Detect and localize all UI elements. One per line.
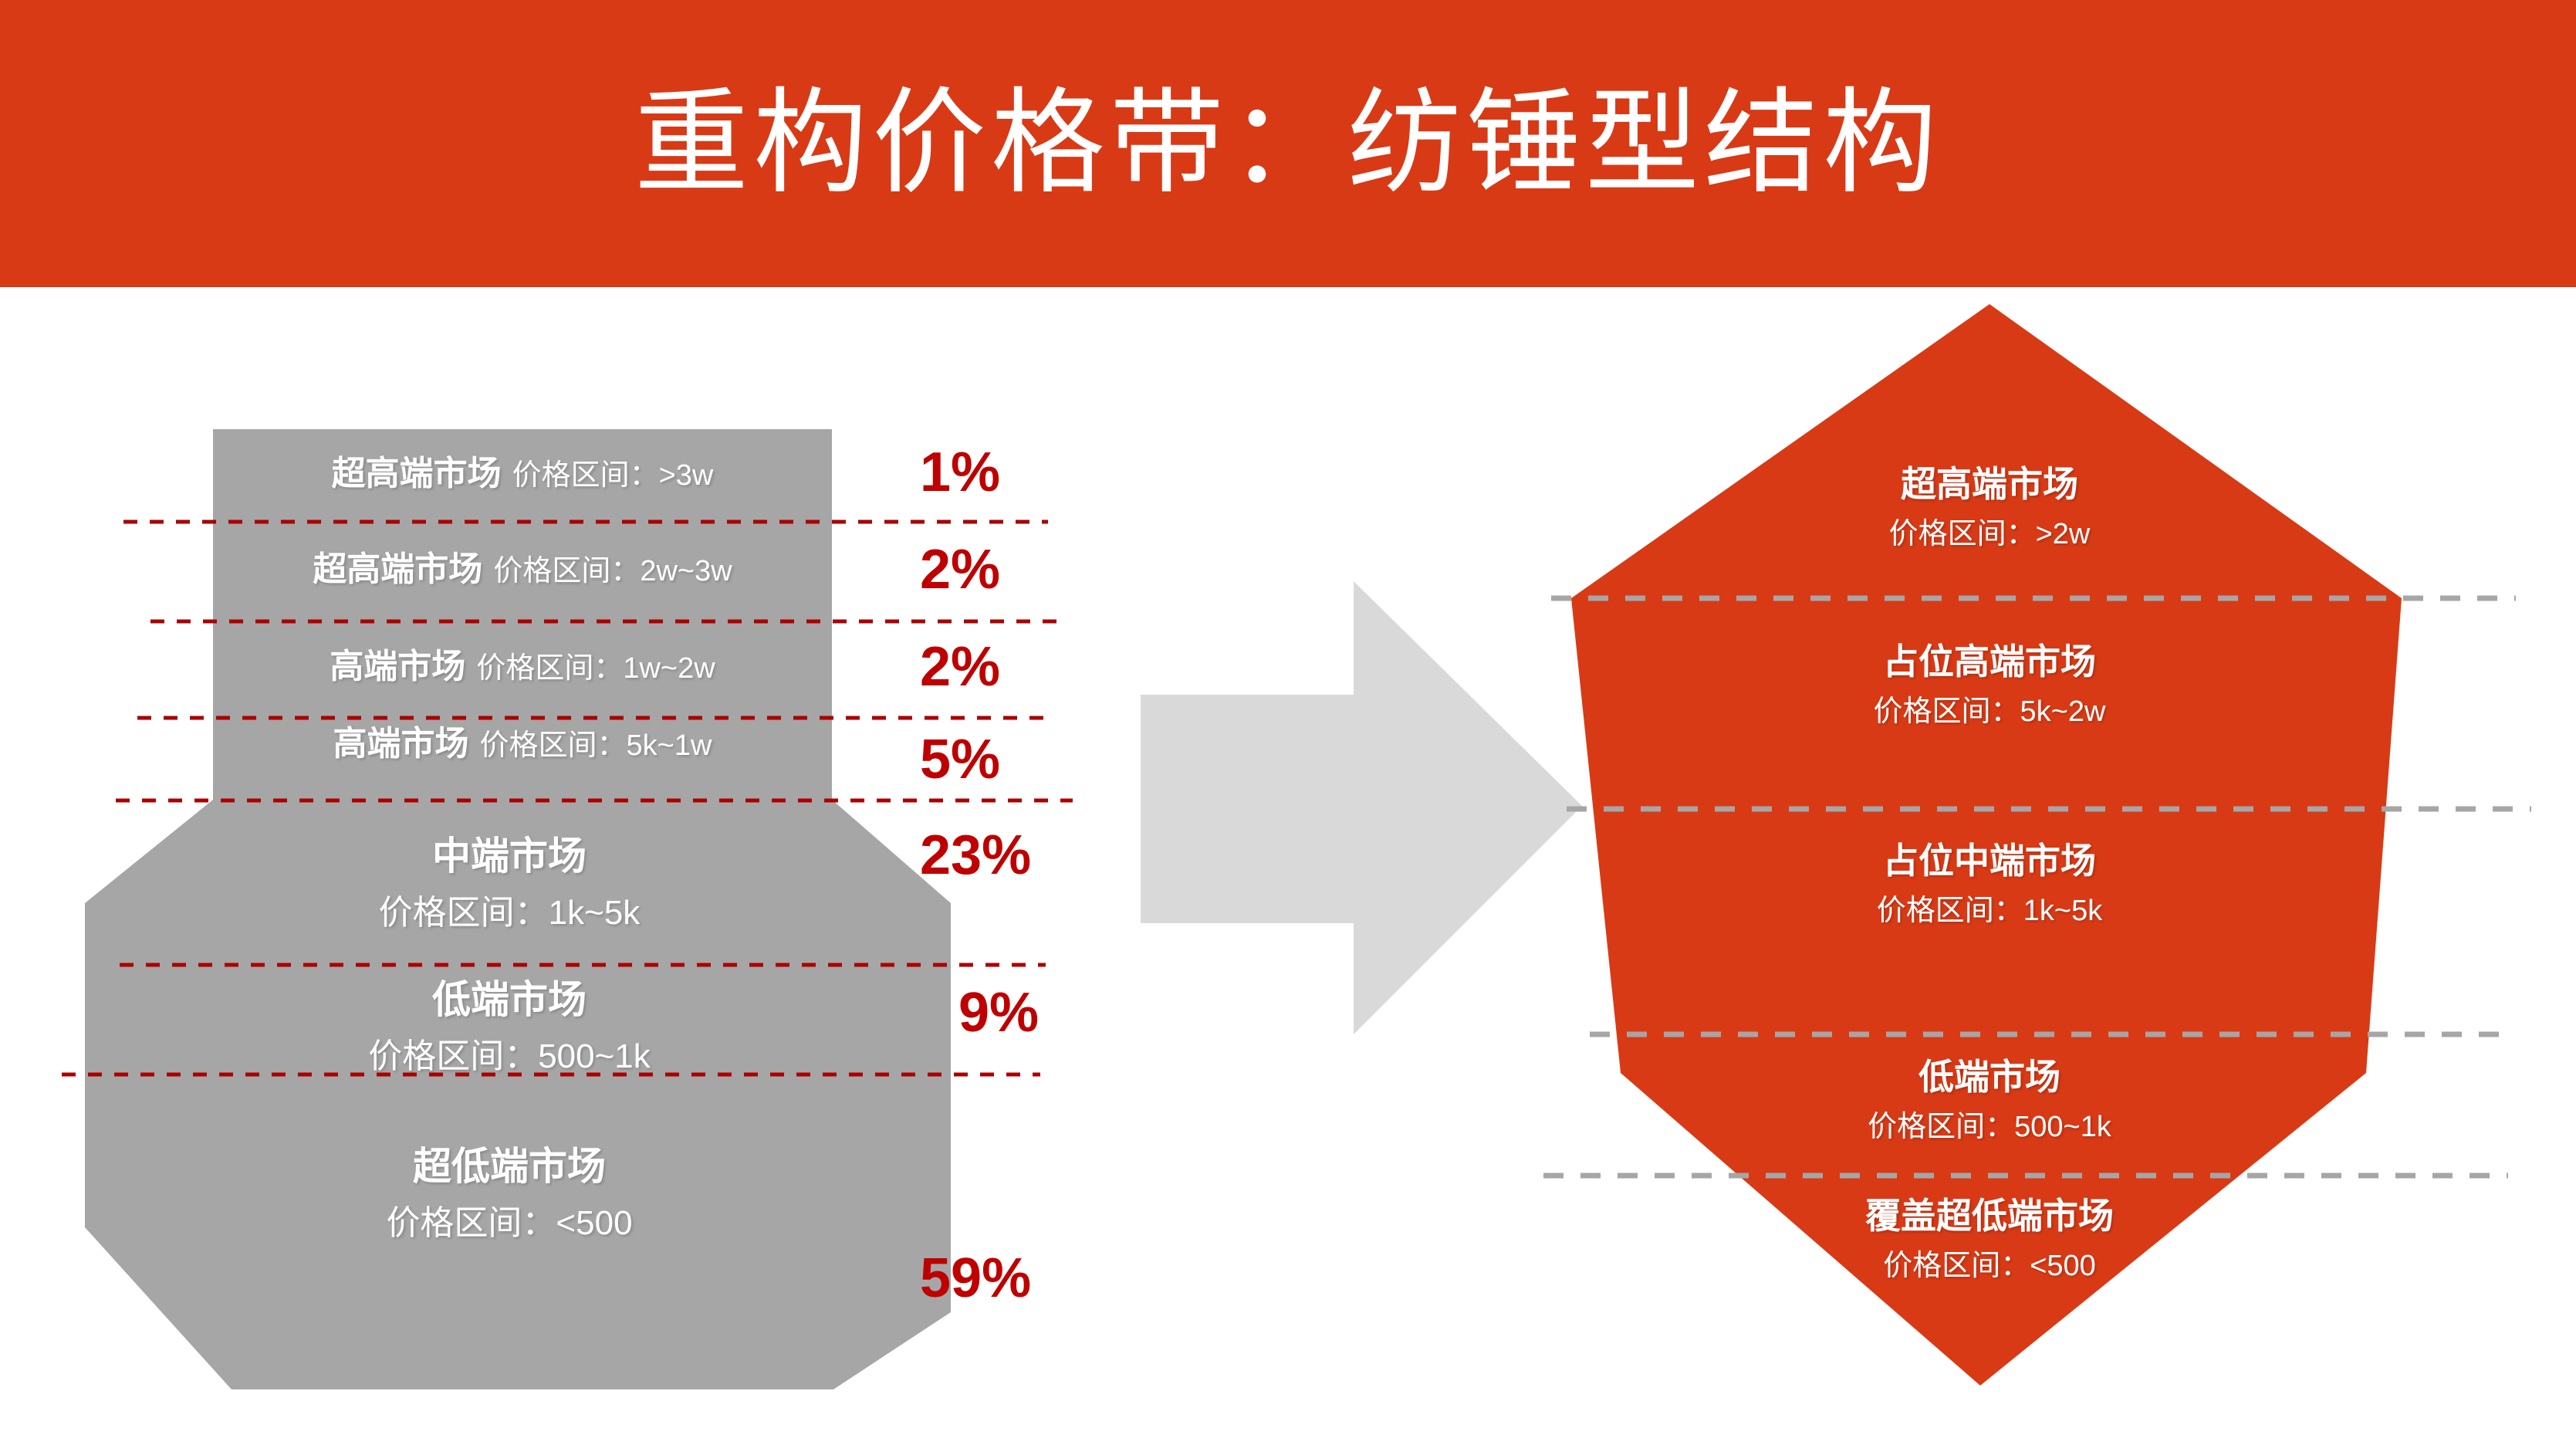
left-tier-3-percent: 5% (920, 732, 1000, 787)
right-tier-3-price: 价格区间：500~1k (1681, 1110, 2298, 1145)
right-tier-0-price: 价格区间：>2w (1681, 517, 2298, 552)
transform-arrow-shape (1141, 581, 1582, 1034)
right-tier-0-name: 超高端市场 (1681, 463, 2298, 505)
right-tier-label-1: 占位高端市场 价格区间：5k~2w (1681, 641, 2298, 729)
left-tier-3-price: 价格区间：5k~1w (480, 729, 712, 763)
left-tier-5-name: 低端市场 (123, 977, 895, 1023)
left-tier-label-3: 高端市场 价格区间：5k~1w (213, 724, 832, 764)
right-tier-label-2: 占位中端市场 价格区间：1k~5k (1681, 840, 2298, 929)
left-tier-6-percent: 59% (920, 1250, 1031, 1306)
left-tier-0-name: 超高端市场 (332, 454, 502, 494)
left-tier-5-percent: 9% (958, 985, 1039, 1041)
left-tier-label-4: 中端市场 价格区间：1k~5k (123, 834, 895, 933)
left-tier-6-name: 超低端市场 (123, 1144, 895, 1190)
right-tier-2-price: 价格区间：1k~5k (1681, 894, 2298, 929)
right-tier-label-4: 覆盖超低端市场 价格区间：<500 (1681, 1195, 2298, 1284)
left-tier-0-price: 价格区间：>3w (512, 459, 714, 493)
left-tier-2-name: 高端市场 (330, 647, 465, 687)
left-tier-1-percent: 2% (920, 542, 1000, 597)
left-tier-4-price: 价格区间：1k~5k (123, 893, 895, 933)
left-tier-label-2: 高端市场 价格区间：1w~2w (213, 647, 832, 687)
left-tier-1-name: 超高端市场 (313, 550, 482, 590)
left-tier-label-0: 超高端市场 价格区间：>3w (213, 454, 832, 494)
left-tier-5-price: 价格区间：500~1k (123, 1037, 895, 1077)
left-tier-3-name: 高端市场 (333, 724, 469, 764)
right-tier-1-price: 价格区间：5k~2w (1681, 695, 2298, 729)
left-tier-label-1: 超高端市场 价格区间：2w~3w (213, 550, 832, 590)
left-tier-2-price: 价格区间：1w~2w (476, 651, 715, 686)
left-tier-2-percent: 2% (920, 639, 1000, 695)
right-tier-1-name: 占位高端市场 (1681, 641, 2298, 682)
left-tier-6-price: 价格区间：<500 (123, 1203, 895, 1244)
left-tier-4-name: 中端市场 (123, 834, 895, 879)
right-tier-4-price: 价格区间：<500 (1681, 1249, 2298, 1284)
right-tier-2-name: 占位中端市场 (1681, 840, 2298, 882)
left-tier-4-percent: 23% (920, 827, 1031, 883)
right-tier-3-name: 低端市场 (1681, 1056, 2298, 1098)
right-tier-label-3: 低端市场 价格区间：500~1k (1681, 1056, 2298, 1145)
slide-root: 重构价格带：纺锤型结构 超高端市场 价格区间：>3w 超高 (0, 0, 2576, 1445)
left-tier-0-percent: 1% (920, 445, 1000, 500)
right-tier-label-0: 超高端市场 价格区间：>2w (1681, 463, 2298, 552)
left-tier-label-5: 低端市场 价格区间：500~1k (123, 977, 895, 1077)
left-tier-label-6: 超低端市场 价格区间：<500 (123, 1144, 895, 1244)
left-tier-1-price: 价格区间：2w~3w (493, 554, 732, 589)
right-tier-4-name: 覆盖超低端市场 (1681, 1195, 2298, 1237)
